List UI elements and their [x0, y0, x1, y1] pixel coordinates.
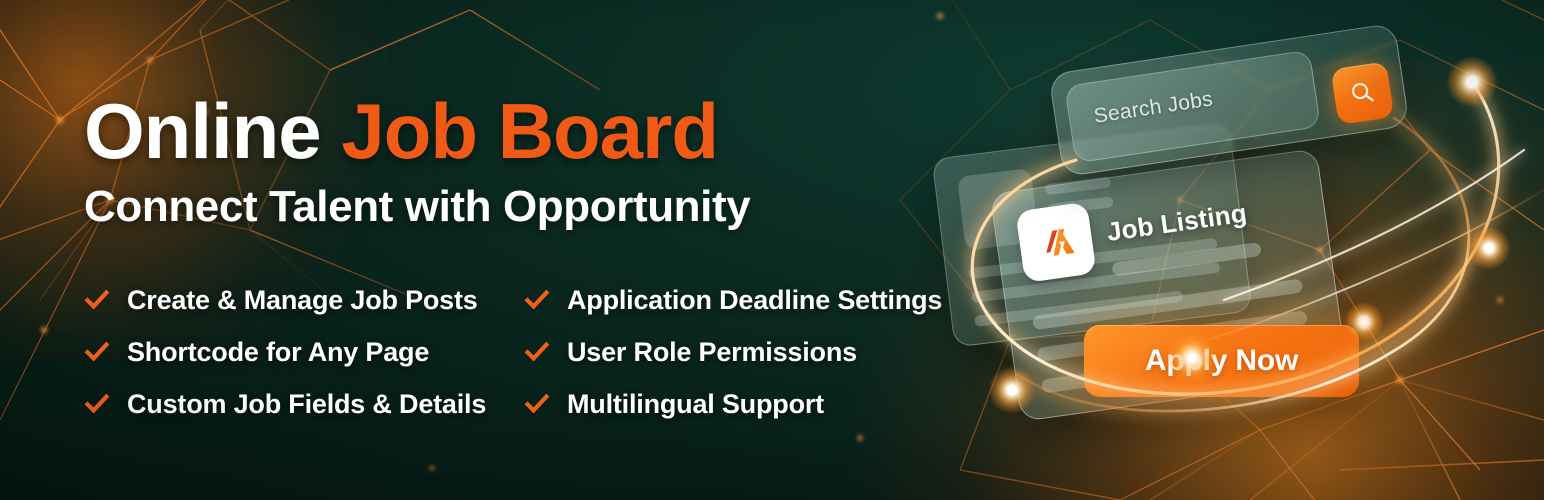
job-board-banner: Online Job Board Connect Talent with Opp… [0, 0, 1544, 500]
vignette-overlay [0, 0, 1544, 500]
